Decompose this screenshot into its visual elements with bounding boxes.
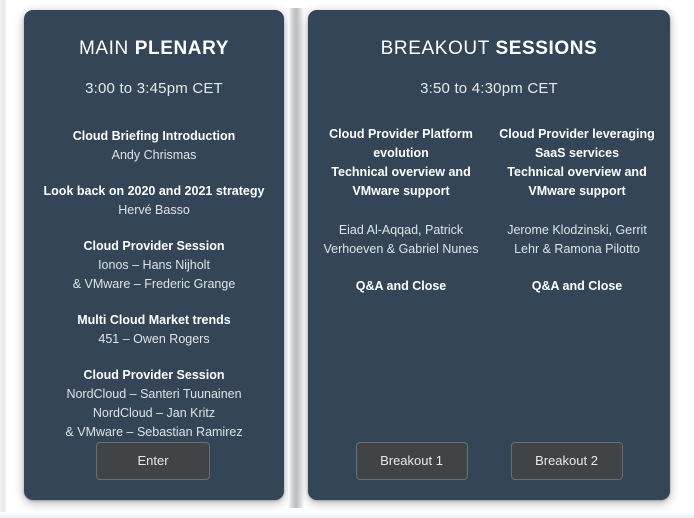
slide-stage: MAIN PLENARY 3:00 to 3:45pm CET Cloud Br…	[0, 0, 694, 518]
enter-button[interactable]: Enter	[96, 442, 210, 480]
breakout-title-light: BREAKOUT	[381, 38, 496, 59]
plenary-title-light: MAIN	[79, 38, 135, 59]
breakout-time: 3:50 to 4:30pm CET	[308, 80, 670, 97]
breakout-heading: Cloud Provider Platform evolutionTechnic…	[322, 125, 480, 201]
plenary-time: 3:00 to 3:45pm CET	[24, 80, 284, 97]
panel-divider	[288, 8, 304, 508]
agenda-speaker-line: Ionos – Hans Nijholt	[34, 256, 274, 275]
agenda-block: Multi Cloud Market trends451 – Owen Roge…	[34, 311, 274, 349]
breakout-qa-line: Q&A and Close	[322, 277, 480, 296]
plenary-agenda-list: Cloud Briefing IntroductionAndy Chrismas…	[24, 127, 284, 478]
agenda-heading: Multi Cloud Market trends	[34, 311, 274, 330]
agenda-heading: Cloud Provider Session	[34, 366, 274, 385]
plenary-title: MAIN PLENARY	[24, 38, 284, 60]
breakout-qa-line: Q&A and Close	[498, 277, 656, 296]
breakout-2-button[interactable]: Breakout 2	[511, 442, 623, 480]
agenda-speaker-line: & VMware – Frederic Grange	[34, 275, 274, 294]
breakout-button-row: Breakout 1Breakout 2	[308, 442, 670, 480]
breakout-columns: Cloud Provider Platform evolutionTechnic…	[308, 125, 670, 296]
breakout-speakers: Jerome Klodzinski, Gerrit Lehr & Ramona …	[498, 221, 656, 259]
agenda-speaker-line: 451 – Owen Rogers	[34, 330, 274, 349]
breakout-title-bold: SESSIONS	[495, 38, 597, 59]
breakout-sessions-panel: BREAKOUT SESSIONS 3:50 to 4:30pm CET Clo…	[308, 10, 670, 500]
agenda-speaker-line: NordCloud – Jan Kritz	[34, 404, 274, 423]
agenda-speaker-line: NordCloud – Santeri Tuunainen	[34, 385, 274, 404]
agenda-heading: Cloud Briefing Introduction	[34, 127, 274, 146]
breakout-speakers: Eiad Al-Aqqad, Patrick Verhoeven & Gabri…	[322, 221, 480, 259]
agenda-block: Cloud Provider SessionIonos – Hans Nijho…	[34, 237, 274, 294]
agenda-block: Cloud Provider SessionNordCloud – Santer…	[34, 366, 274, 442]
agenda-block: Look back on 2020 and 2021 strategyHervé…	[34, 182, 274, 220]
breakout-1-button[interactable]: Breakout 1	[356, 442, 468, 480]
breakout-column: Cloud Provider leveraging SaaS servicesT…	[498, 125, 656, 296]
breakout-title: BREAKOUT SESSIONS	[308, 38, 670, 60]
plenary-title-bold: PLENARY	[135, 38, 229, 59]
agenda-speaker-line: Andy Chrismas	[34, 146, 274, 165]
agenda-heading: Cloud Provider Session	[34, 237, 274, 256]
agenda-speaker-line: & VMware – Sebastian Ramirez	[34, 423, 274, 442]
breakout-heading: Cloud Provider leveraging SaaS servicesT…	[498, 125, 656, 201]
agenda-speaker-line: Hervé Basso	[34, 201, 274, 220]
agenda-heading: Look back on 2020 and 2021 strategy	[34, 182, 274, 201]
main-plenary-panel: MAIN PLENARY 3:00 to 3:45pm CET Cloud Br…	[24, 10, 284, 500]
agenda-block: Cloud Briefing IntroductionAndy Chrismas	[34, 127, 274, 165]
breakout-column: Cloud Provider Platform evolutionTechnic…	[322, 125, 480, 296]
